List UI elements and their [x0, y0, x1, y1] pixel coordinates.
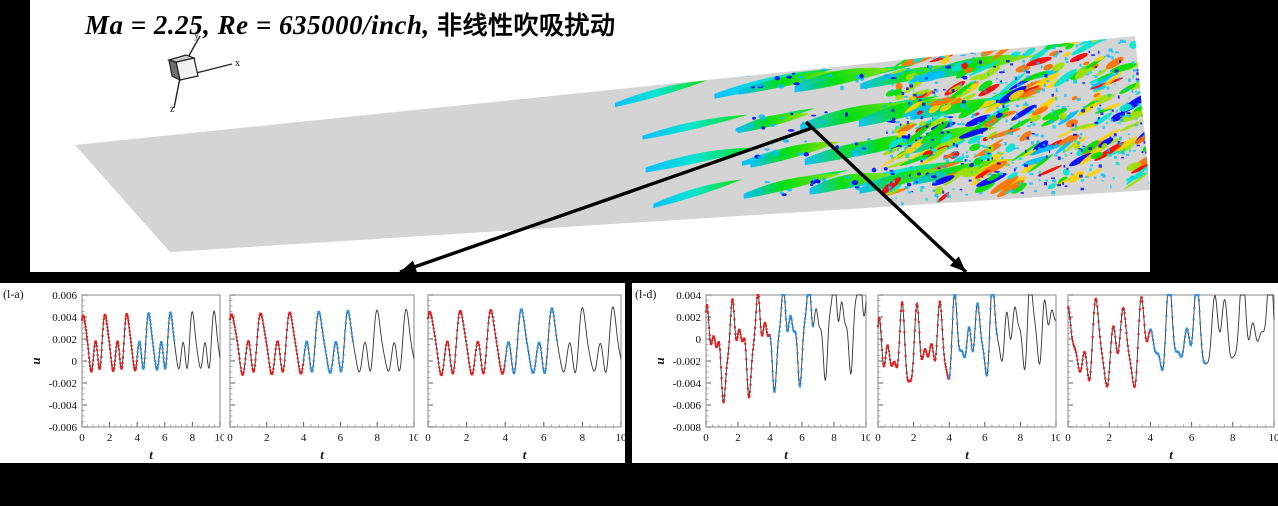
plot-frame [82, 295, 220, 427]
x-axis-label: t [320, 447, 324, 462]
coordinate-triad-icon: y x z [140, 22, 250, 112]
plot-frame [1068, 295, 1274, 427]
y-tick-label: 0.004 [52, 312, 77, 324]
x-tick-label: 4 [301, 432, 307, 444]
dns-transition-visualization: Ma = 2.25, Re = 635000/inch, 非线性吹吸扰动 y x… [30, 0, 1150, 272]
y-tick-label: -0.006 [673, 400, 702, 412]
x-axis-label: t [965, 447, 969, 462]
x-tick-label: 8 [190, 432, 196, 444]
subplot-wrap-l-a-2: 0246810t [222, 283, 418, 463]
y-tick-label: 0.004 [676, 290, 701, 302]
x-tick-label: 10 [409, 432, 419, 444]
y-tick-label: -0.004 [673, 378, 702, 390]
title-math: Ma = 2.25, Re = 635000/inch, [85, 10, 430, 40]
x-tick-label: 10 [861, 432, 871, 444]
title-cjk: 非线性吹吸扰动 [437, 11, 616, 40]
y-tick-label: -0.002 [49, 378, 77, 390]
x-tick-label: 0 [1065, 432, 1071, 444]
plot-frame [878, 295, 1056, 427]
subplot-l-d-1: 02468100.0040.0020-0.002-0.004-0.006-0.0… [652, 283, 870, 463]
x-axis-label: t [149, 447, 153, 462]
x-tick-label: 6 [338, 432, 344, 444]
x-tick-label: 0 [425, 432, 431, 444]
triad-label-z: z [170, 104, 175, 112]
plot-frame [230, 295, 414, 427]
subplot-l-a-1: 02468100.0060.0040.0020-0.002-0.004-0.00… [28, 283, 224, 463]
subplot-l-a-2: 0246810t [222, 283, 418, 463]
x-tick-label: 0 [703, 432, 709, 444]
triad-label-y: y [194, 30, 199, 41]
x-tick-label: 8 [580, 432, 586, 444]
y-tick-label: 0 [696, 334, 702, 346]
plot-group-tag-l-a: (l-a) [3, 287, 24, 302]
x-tick-label: 4 [134, 432, 140, 444]
plot-frame [428, 295, 621, 427]
y-tick-label: 0.002 [676, 312, 701, 324]
y-tick-label: -0.002 [673, 356, 701, 368]
x-tick-label: 2 [1106, 432, 1112, 444]
x-tick-label: 8 [831, 432, 837, 444]
x-tick-label: 4 [767, 432, 773, 444]
x-tick-label: 8 [1230, 432, 1236, 444]
y-tick-label: -0.004 [49, 400, 78, 412]
x-tick-label: 8 [1018, 432, 1024, 444]
x-tick-label: 6 [162, 432, 168, 444]
x-tick-label: 8 [374, 432, 380, 444]
triad-label-x: x [235, 58, 240, 69]
x-tick-label: 10 [1051, 432, 1061, 444]
x-tick-label: 4 [502, 432, 508, 444]
x-tick-label: 6 [541, 432, 547, 444]
subplot-wrap-l-a-1: 02468100.0060.0040.0020-0.002-0.004-0.00… [28, 283, 224, 463]
x-tick-label: 6 [799, 432, 805, 444]
x-tick-label: 2 [735, 432, 741, 444]
x-tick-label: 10 [1269, 432, 1278, 444]
y-axis-label: u [28, 357, 43, 364]
subplot-wrap-l-d-1: 02468100.0040.0020-0.002-0.004-0.006-0.0… [652, 283, 870, 463]
x-tick-label: 2 [464, 432, 470, 444]
x-tick-label: 0 [79, 432, 85, 444]
x-tick-label: 6 [982, 432, 988, 444]
figure-canvas: Ma = 2.25, Re = 635000/inch, 非线性吹吸扰动 y x… [0, 0, 1278, 506]
x-axis-label: t [1169, 447, 1173, 462]
x-tick-label: 2 [107, 432, 113, 444]
subplot-l-d-2: 0246810t [870, 283, 1060, 463]
x-tick-label: 2 [264, 432, 270, 444]
subplot-wrap-l-a-3: 0246810t [420, 283, 625, 463]
y-axis-label: u [652, 357, 667, 364]
x-tick-label: 6 [1189, 432, 1195, 444]
y-tick-label: 0.006 [52, 290, 77, 302]
x-axis-label: t [784, 447, 788, 462]
subplot-l-d-3: 0246810t [1060, 283, 1278, 463]
y-tick-label: 0 [72, 356, 78, 368]
subplot-l-a-3: 0246810t [420, 283, 625, 463]
x-tick-label: 2 [911, 432, 917, 444]
y-tick-label: -0.008 [673, 422, 702, 434]
x-tick-label: 4 [1148, 432, 1154, 444]
x-tick-label: 4 [946, 432, 952, 444]
plot-group-l-a: (l-a) 02468100.0060.0040.0020-0.002-0.00… [0, 283, 625, 463]
plot-group-l-d: (l-d) 02468100.0040.0020-0.002-0.004-0.0… [632, 283, 1278, 463]
x-tick-label: 0 [875, 432, 881, 444]
x-axis-label: t [523, 447, 527, 462]
subplot-wrap-l-d-2: 0246810t [870, 283, 1060, 463]
x-tick-label: 0 [227, 432, 233, 444]
x-tick-label: 10 [616, 432, 626, 444]
y-tick-label: -0.006 [49, 422, 78, 434]
subplot-wrap-l-d-3: 0246810t [1060, 283, 1278, 463]
y-tick-label: 0.002 [52, 334, 77, 346]
